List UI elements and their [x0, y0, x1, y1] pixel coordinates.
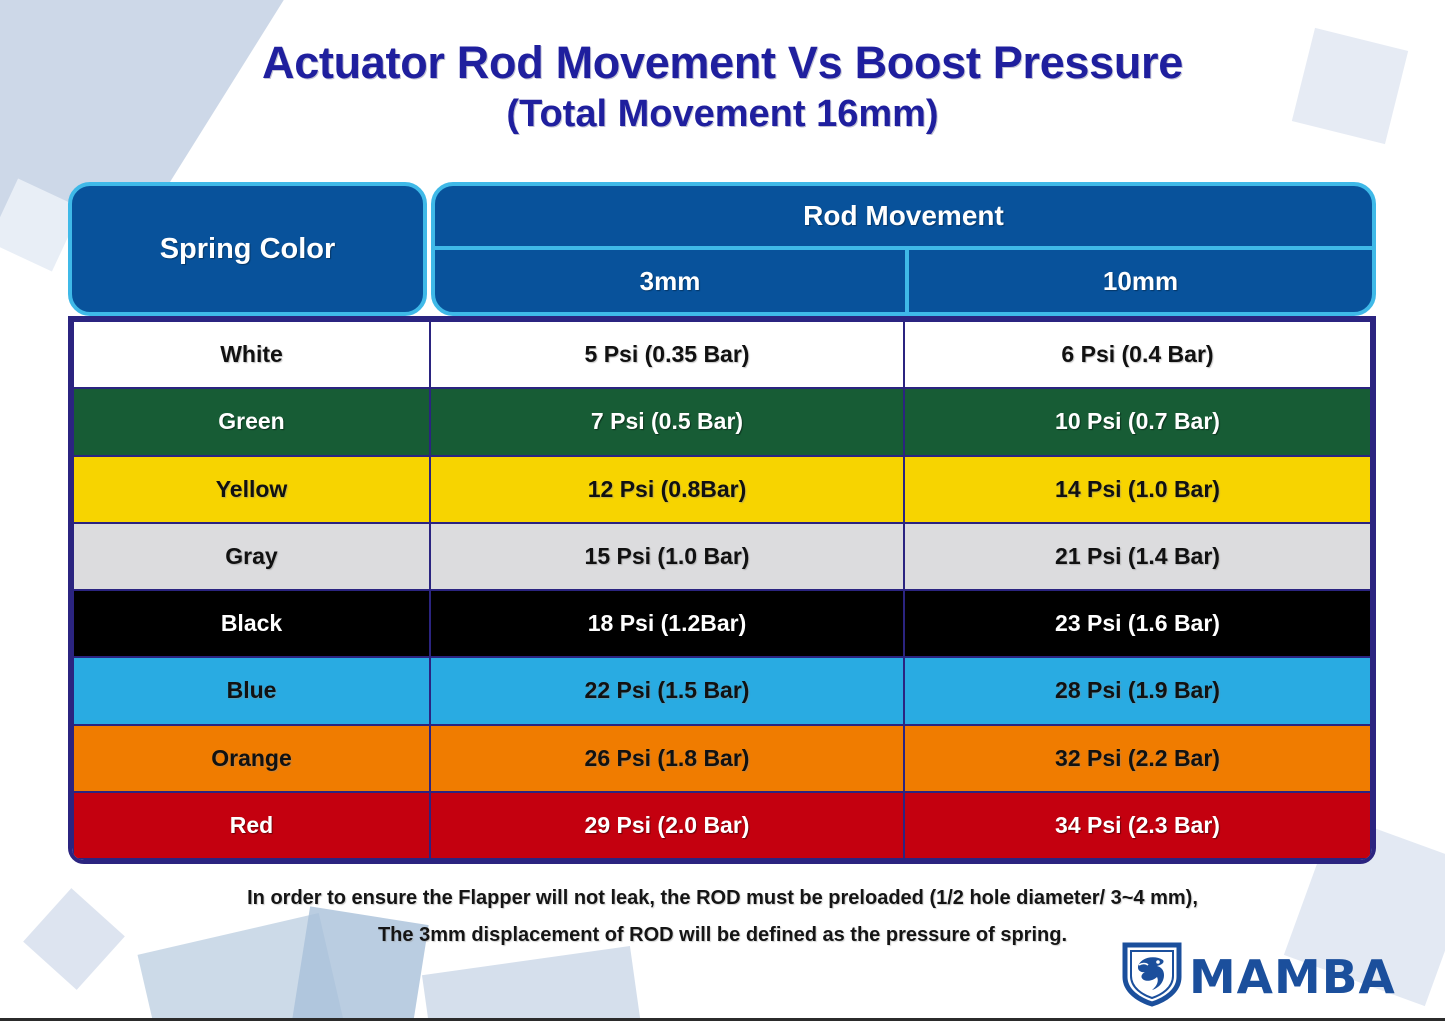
table-row: Red29 Psi (2.0 Bar)34 Psi (2.3 Bar): [73, 792, 1371, 859]
cell-spring-color: White: [73, 321, 430, 388]
cell-pressure-10mm: 6 Psi (0.4 Bar): [904, 321, 1371, 388]
table-header-spring-color-label: Spring Color: [160, 233, 336, 266]
cell-pressure-10mm: 14 Psi (1.0 Bar): [904, 456, 1371, 523]
cell-pressure-3mm: 7 Psi (0.5 Bar): [430, 388, 904, 455]
pressure-table-body: White5 Psi (0.35 Bar)6 Psi (0.4 Bar)Gree…: [68, 316, 1376, 864]
table-row: Orange26 Psi (1.8 Bar)32 Psi (2.2 Bar): [73, 725, 1371, 792]
table-row: Blue22 Psi (1.5 Bar)28 Psi (1.9 Bar): [73, 657, 1371, 724]
cell-pressure-3mm: 15 Psi (1.0 Bar): [430, 523, 904, 590]
cell-pressure-3mm: 5 Psi (0.35 Bar): [430, 321, 904, 388]
mamba-snake-shield-icon: [1121, 941, 1183, 1012]
infographic-page: Actuator Rod Movement Vs Boost Pressure …: [0, 0, 1445, 1021]
table-header-subrow: 3mm 10mm: [435, 246, 1372, 312]
cell-pressure-10mm: 32 Psi (2.2 Bar): [904, 725, 1371, 792]
cell-pressure-10mm: 28 Psi (1.9 Bar): [904, 657, 1371, 724]
cell-spring-color: Blue: [73, 657, 430, 724]
table-row: Yellow12 Psi (0.8Bar)14 Psi (1.0 Bar): [73, 456, 1371, 523]
table-header-10mm: 10mm: [909, 250, 1372, 312]
table-row: Gray15 Psi (1.0 Bar)21 Psi (1.4 Bar): [73, 523, 1371, 590]
cell-pressure-3mm: 26 Psi (1.8 Bar): [430, 725, 904, 792]
decorative-shape-bottom-mid: [422, 946, 648, 1021]
cell-spring-color: Red: [73, 792, 430, 859]
cell-spring-color: Black: [73, 590, 430, 657]
cell-spring-color: Gray: [73, 523, 430, 590]
cell-pressure-10mm: 23 Psi (1.6 Bar): [904, 590, 1371, 657]
page-title-line1: Actuator Rod Movement Vs Boost Pressure: [0, 36, 1445, 91]
cell-pressure-3mm: 18 Psi (1.2Bar): [430, 590, 904, 657]
cell-pressure-3mm: 12 Psi (0.8Bar): [430, 456, 904, 523]
table-header-spring-color: Spring Color: [68, 182, 427, 316]
table-header-rod-movement-label: Rod Movement: [435, 186, 1372, 246]
pressure-table: White5 Psi (0.35 Bar)6 Psi (0.4 Bar)Gree…: [72, 320, 1372, 860]
footer-note-1: In order to ensure the Flapper will not …: [0, 880, 1445, 917]
cell-pressure-3mm: 22 Psi (1.5 Bar): [430, 657, 904, 724]
table-header-rod-movement: Rod Movement 3mm 10mm: [431, 182, 1376, 316]
cell-spring-color: Yellow: [73, 456, 430, 523]
mamba-logo: MAMBA: [1121, 941, 1394, 1012]
cell-pressure-10mm: 34 Psi (2.3 Bar): [904, 792, 1371, 859]
cell-spring-color: Green: [73, 388, 430, 455]
mamba-wordmark: MAMBA: [1189, 954, 1396, 1000]
table-row: White5 Psi (0.35 Bar)6 Psi (0.4 Bar): [73, 321, 1371, 388]
page-title-line2: (Total Movement 16mm): [0, 91, 1445, 137]
cell-spring-color: Orange: [73, 725, 430, 792]
cell-pressure-10mm: 10 Psi (0.7 Bar): [904, 388, 1371, 455]
page-title: Actuator Rod Movement Vs Boost Pressure …: [0, 36, 1445, 137]
table-row: Black18 Psi (1.2Bar)23 Psi (1.6 Bar): [73, 590, 1371, 657]
table-row: Green7 Psi (0.5 Bar)10 Psi (0.7 Bar): [73, 388, 1371, 455]
cell-pressure-10mm: 21 Psi (1.4 Bar): [904, 523, 1371, 590]
cell-pressure-3mm: 29 Psi (2.0 Bar): [430, 792, 904, 859]
table-header-3mm: 3mm: [435, 250, 909, 312]
